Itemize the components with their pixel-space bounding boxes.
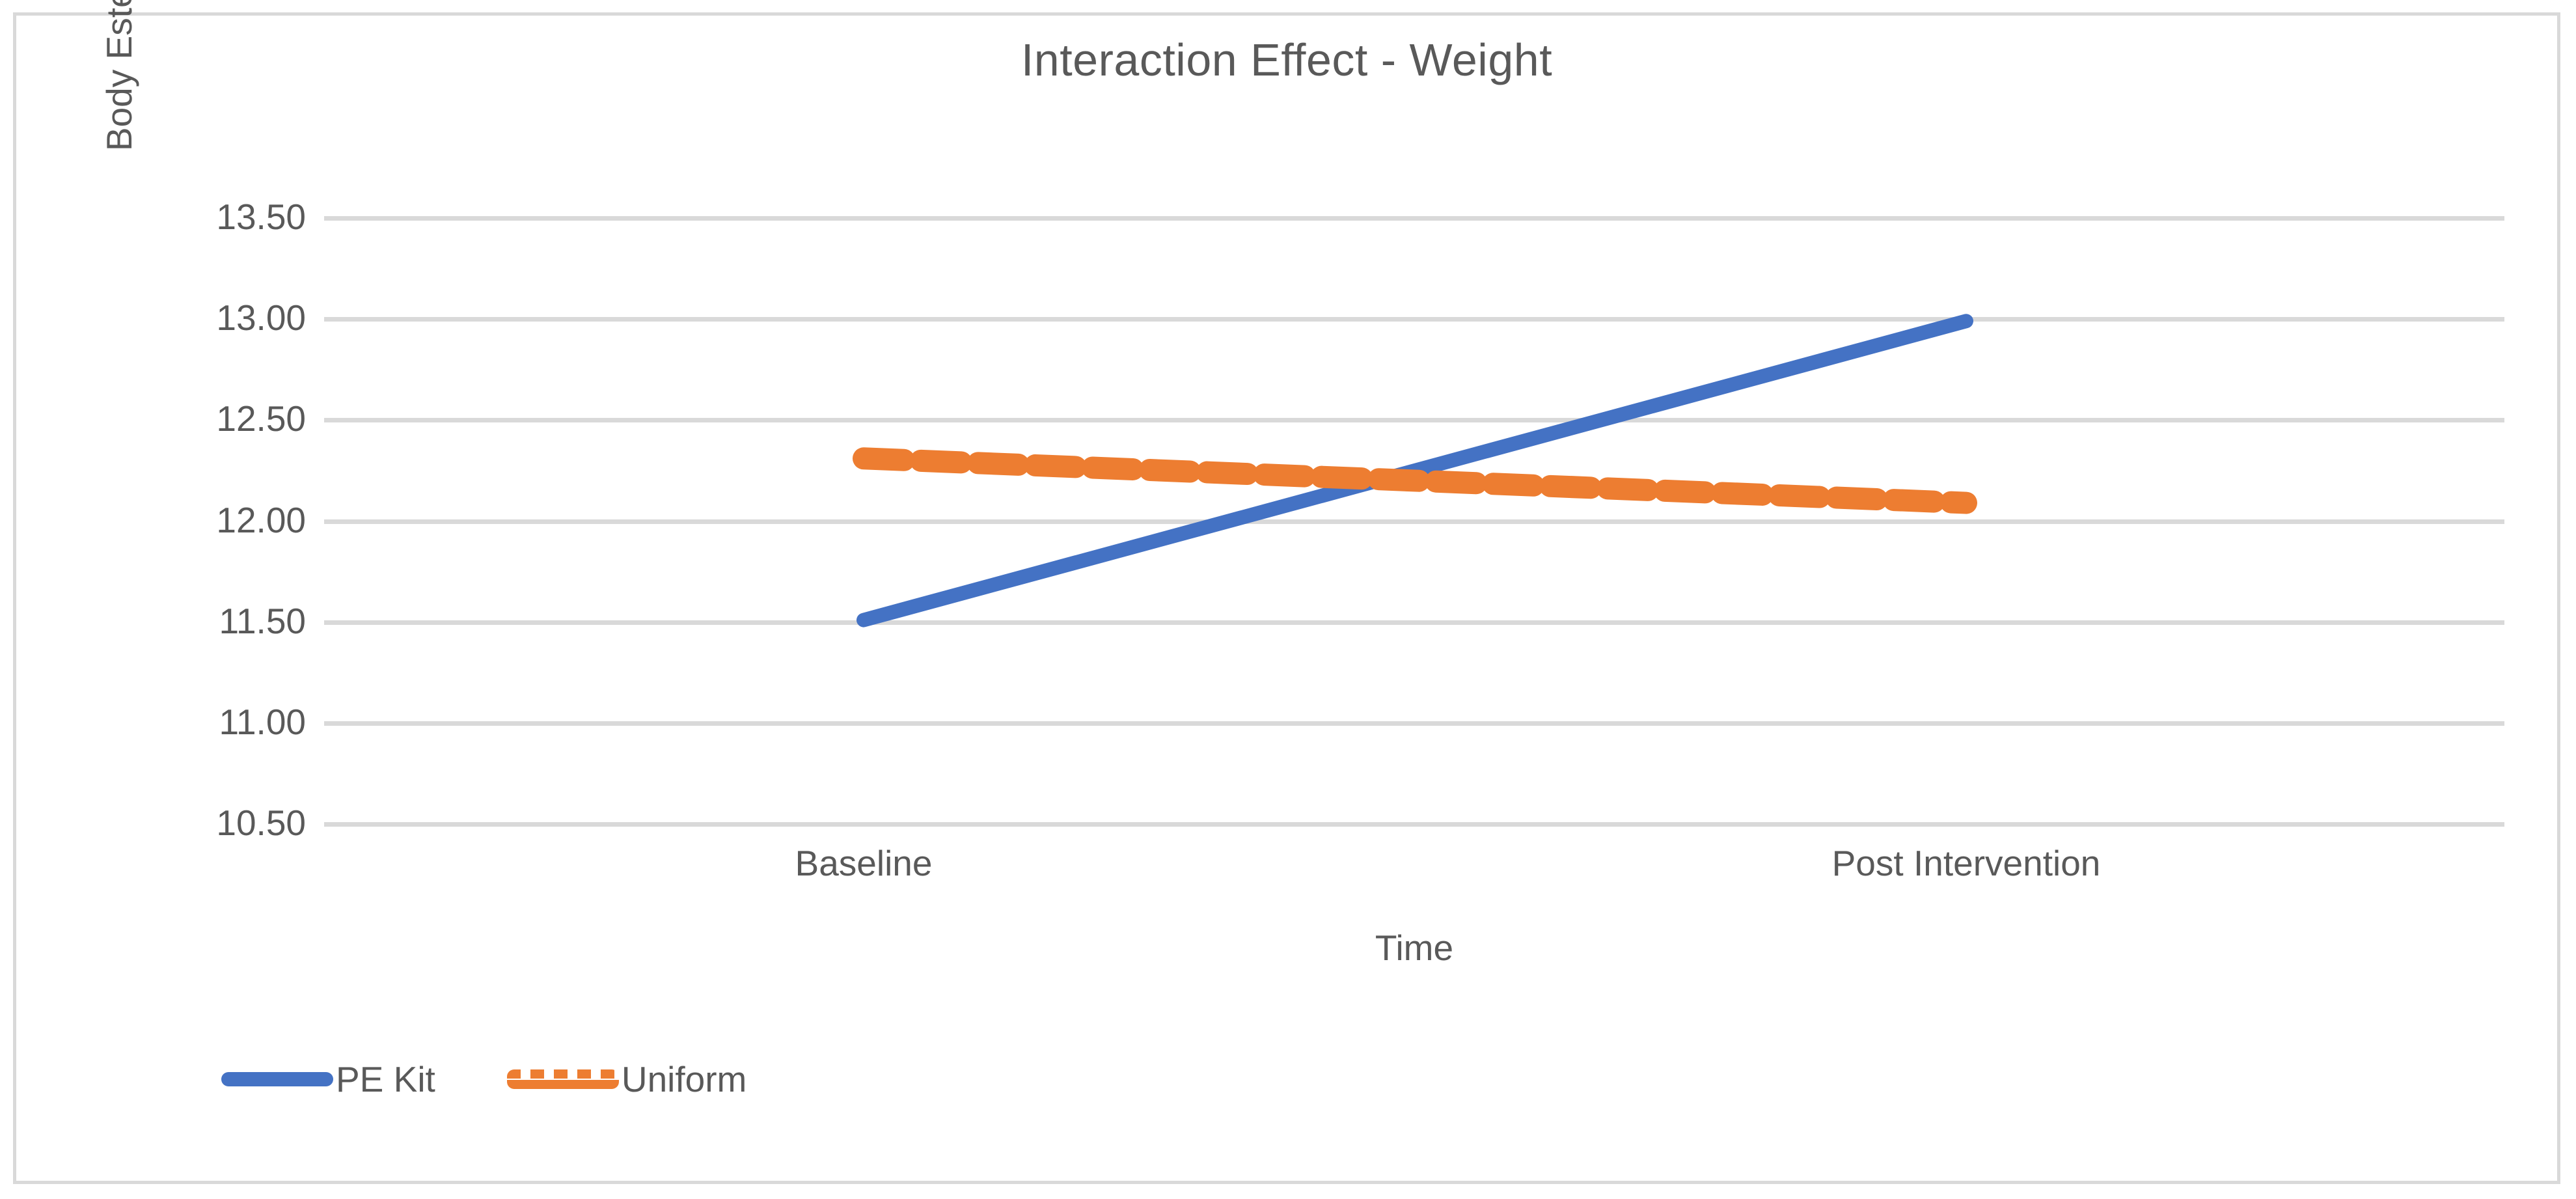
chart-legend: PE KitUniform	[221, 1058, 747, 1100]
chart-frame: Interaction Effect - Weight Body Esteem …	[13, 12, 2560, 1184]
x-tick-label: Post Intervention	[1832, 842, 2101, 884]
y-tick-label: 11.50	[155, 600, 306, 642]
legend-label: PE Kit	[336, 1058, 435, 1100]
y-axis-title: Body Esteem - Weight	[96, 0, 142, 276]
legend-entry-pe-kit[interactable]: PE Kit	[221, 1058, 435, 1100]
series-lines	[324, 218, 2504, 824]
y-tick-label: 10.50	[155, 802, 306, 844]
x-axis-title: Time	[324, 927, 2504, 969]
x-axis-tick-labels: BaselinePost Intervention	[324, 842, 2504, 894]
plot-area	[324, 218, 2504, 824]
legend-swatch-icon	[221, 1072, 333, 1086]
y-tick-label: 11.00	[155, 701, 306, 743]
legend-entry-uniform[interactable]: Uniform	[507, 1058, 747, 1100]
legend-label: Uniform	[622, 1058, 747, 1100]
chart-title: Interaction Effect - Weight	[16, 34, 2557, 86]
legend-swatch-icon	[507, 1069, 619, 1089]
y-axis-tick-labels: 13.5013.0012.5012.0011.5011.0010.50	[155, 218, 306, 824]
y-tick-label: 12.50	[155, 398, 306, 439]
x-tick-label: Baseline	[795, 842, 933, 884]
y-tick-label: 13.50	[155, 196, 306, 238]
y-tick-label: 13.00	[155, 297, 306, 338]
y-tick-label: 12.00	[155, 499, 306, 541]
